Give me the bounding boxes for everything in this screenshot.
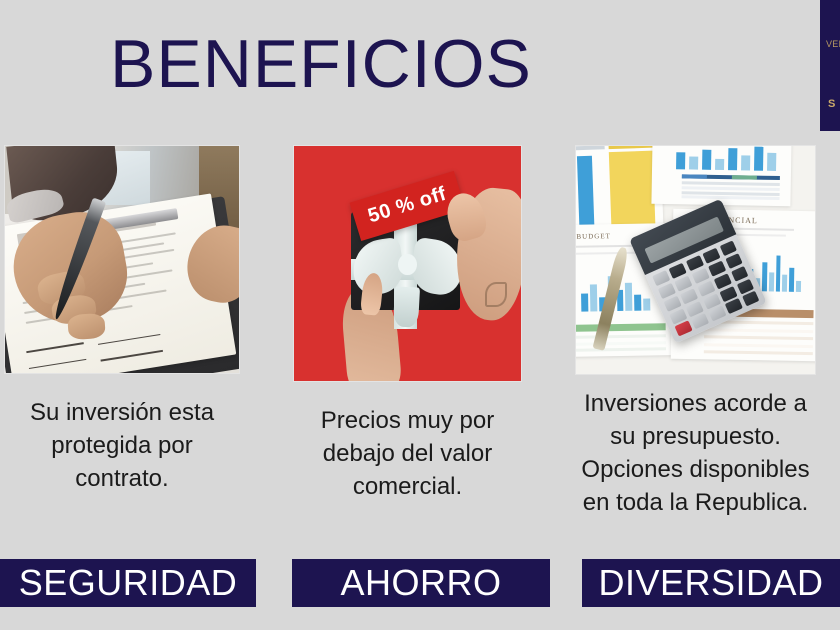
benefit-banner-diversidad: DIVERSIDAD [582,559,840,607]
budget-sheet-title: Y BUDGET [575,232,611,241]
benefit-column-seguridad: Su inversión esta protegida por contrato… [4,145,240,495]
contract-signing-photo [4,145,240,374]
benefit-caption-ahorro: Precios muy por debajo del valor comerci… [293,404,522,503]
page-title: BENEFICIOS [110,26,532,102]
benefit-banner-label-seguridad: SEGURIDAD [19,564,238,602]
benefit-banner-seguridad: SEGURIDAD [0,559,256,607]
corner-accent-block: VENTAS S [820,0,840,131]
benefit-caption-diversidad: Inversiones acorde a su presupuesto. Opc… [575,387,816,519]
corner-accent-text-line1: VENTAS [826,38,840,51]
benefit-banner-ahorro: AHORRO [292,559,550,607]
benefit-banner-label-ahorro: AHORRO [340,564,501,602]
financial-reports-calculator-photo: Y BUDGET F [575,145,816,375]
benefit-banner-label-diversidad: DIVERSIDAD [598,564,823,602]
corner-accent-text-line2: S [828,98,840,110]
slide-canvas: VENTAS S BENEFICIOS [0,0,840,630]
benefit-caption-seguridad: Su inversión esta protegida por contrato… [4,396,240,495]
benefit-column-diversidad: Y BUDGET F [575,145,816,519]
gift-box-discount-photo: 50 % off [293,145,522,382]
benefit-column-ahorro: 50 % off Precios muy por debajo del valo… [293,145,522,503]
